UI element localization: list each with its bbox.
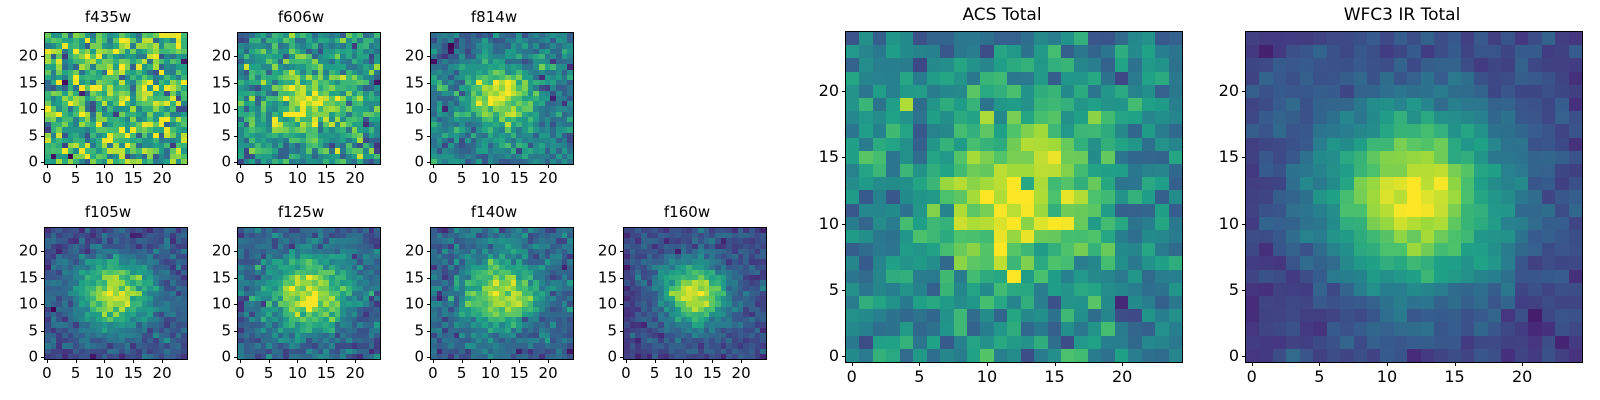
heatmap-image [45,33,187,164]
heatmap-axes [237,227,381,360]
x-tick-label: 15 [1444,369,1464,385]
x-tick-label: 15 [317,366,336,381]
figure-canvas: f435w0055101015152020f606w00551010151520… [0,0,1600,400]
y-tick-label: 20 [8,243,38,258]
y-tick-mark [427,136,430,137]
x-tick-mark [1319,363,1320,366]
x-tick-mark [462,165,463,168]
x-tick-label: 0 [42,171,52,186]
x-tick-label: 15 [124,366,143,381]
y-tick-label: 20 [587,243,617,258]
y-tick-label: 0 [394,155,424,170]
y-tick-mark [842,224,845,225]
y-tick-label: 15 [201,270,231,285]
y-tick-label: 5 [587,323,617,338]
heatmap-axes [237,32,381,165]
panel-f105w: f105w0055101015152020 [8,201,208,386]
y-tick-mark [41,109,44,110]
y-tick-label: 20 [201,48,231,63]
x-tick-mark [433,165,434,168]
x-tick-mark [519,165,520,168]
heatmap-image [431,228,573,359]
x-tick-mark [355,360,356,363]
y-tick-mark [234,83,237,84]
y-tick-mark [427,162,430,163]
y-tick-label: 20 [201,243,231,258]
y-tick-label: 5 [801,282,839,298]
y-tick-mark [427,278,430,279]
heatmap-axes [623,227,767,360]
y-tick-label: 5 [1201,282,1239,298]
x-tick-label: 0 [621,366,631,381]
x-tick-mark [519,360,520,363]
y-tick-label: 0 [201,155,231,170]
panel-title: f160w [587,205,787,220]
y-tick-label: 20 [8,48,38,63]
y-tick-mark [1242,91,1245,92]
x-tick-mark [297,360,298,363]
x-tick-label: 5 [1314,369,1324,385]
y-tick-label: 20 [394,243,424,258]
y-tick-label: 5 [201,323,231,338]
x-tick-label: 5 [71,171,81,186]
x-tick-mark [987,363,988,366]
x-tick-mark [1387,363,1388,366]
x-tick-mark [741,360,742,363]
y-tick-label: 10 [8,297,38,312]
x-tick-label: 15 [510,171,529,186]
x-tick-mark [626,360,627,363]
x-tick-label: 5 [650,366,660,381]
x-tick-label: 5 [914,369,924,385]
x-tick-mark [655,360,656,363]
y-tick-mark [41,357,44,358]
x-tick-mark [269,165,270,168]
x-tick-label: 20 [1112,369,1132,385]
x-tick-label: 15 [703,366,722,381]
y-tick-label: 20 [1201,83,1239,99]
x-tick-mark [548,165,549,168]
x-tick-label: 0 [235,171,245,186]
x-tick-mark [47,165,48,168]
panel-title: f125w [201,205,401,220]
x-tick-mark [433,360,434,363]
x-tick-mark [76,360,77,363]
x-tick-mark [240,360,241,363]
x-tick-mark [133,165,134,168]
y-tick-mark [427,331,430,332]
y-tick-label: 10 [394,297,424,312]
y-tick-mark [1242,356,1245,357]
x-tick-mark [76,165,77,168]
y-tick-mark [41,278,44,279]
y-tick-mark [620,251,623,252]
panel-title: ACS Total [801,7,1203,24]
y-tick-label: 15 [1201,149,1239,165]
x-tick-label: 15 [317,171,336,186]
y-tick-mark [234,278,237,279]
y-tick-mark [234,109,237,110]
y-tick-label: 0 [201,350,231,365]
y-tick-label: 15 [8,270,38,285]
panel-f435w: f435w0055101015152020 [8,6,208,191]
x-tick-mark [1252,363,1253,366]
y-tick-label: 10 [587,297,617,312]
panel-title: WFC3 IR Total [1201,7,1600,24]
y-tick-mark [234,136,237,137]
x-tick-mark [1122,363,1123,366]
y-tick-label: 15 [201,75,231,90]
panel-f125w: f125w0055101015152020 [201,201,401,386]
y-tick-mark [842,157,845,158]
x-tick-label: 10 [1377,369,1397,385]
x-tick-label: 20 [539,366,558,381]
y-tick-mark [427,357,430,358]
panel-f140w: f140w0055101015152020 [394,201,594,386]
x-tick-mark [919,363,920,366]
y-tick-mark [427,56,430,57]
x-tick-label: 10 [674,366,693,381]
panel-title: f814w [394,10,594,25]
x-tick-mark [683,360,684,363]
y-tick-mark [234,357,237,358]
y-tick-mark [234,331,237,332]
y-tick-mark [234,251,237,252]
x-tick-label: 20 [732,366,751,381]
y-tick-mark [427,251,430,252]
y-tick-label: 15 [394,75,424,90]
x-tick-mark [297,165,298,168]
y-tick-mark [427,83,430,84]
x-tick-label: 15 [124,171,143,186]
y-tick-mark [842,290,845,291]
y-tick-label: 0 [801,348,839,364]
x-tick-label: 5 [264,171,274,186]
x-tick-label: 0 [428,366,438,381]
y-tick-label: 10 [394,102,424,117]
y-tick-label: 15 [394,270,424,285]
y-tick-mark [842,91,845,92]
heatmap-axes [845,31,1183,363]
y-tick-mark [41,162,44,163]
y-tick-label: 15 [801,149,839,165]
y-tick-label: 20 [394,48,424,63]
x-tick-label: 15 [1044,369,1064,385]
panel-f606w: f606w0055101015152020 [201,6,401,191]
y-tick-label: 5 [201,128,231,143]
x-tick-mark [162,165,163,168]
heatmap-axes [430,227,574,360]
y-tick-mark [41,83,44,84]
panel-title: f140w [394,205,594,220]
y-tick-label: 5 [8,323,38,338]
x-tick-mark [462,360,463,363]
x-tick-label: 10 [288,171,307,186]
y-tick-label: 0 [8,350,38,365]
x-tick-label: 15 [510,366,529,381]
y-tick-mark [41,331,44,332]
y-tick-mark [41,136,44,137]
x-tick-label: 5 [264,366,274,381]
x-tick-label: 10 [95,366,114,381]
heatmap-image [1246,32,1582,362]
x-tick-mark [162,360,163,363]
heatmap-image [624,228,766,359]
y-tick-label: 0 [394,350,424,365]
x-tick-mark [104,360,105,363]
x-tick-label: 5 [71,366,81,381]
x-tick-mark [47,360,48,363]
y-tick-mark [234,56,237,57]
y-tick-mark [620,331,623,332]
y-tick-mark [1242,290,1245,291]
x-tick-label: 20 [153,366,172,381]
y-tick-label: 10 [1201,216,1239,232]
heatmap-axes [1245,31,1583,363]
x-tick-label: 10 [481,171,500,186]
y-tick-mark [620,357,623,358]
x-tick-label: 0 [235,366,245,381]
heatmap-image [846,32,1182,362]
y-tick-label: 10 [201,102,231,117]
y-tick-label: 20 [801,83,839,99]
panel-wfc3-ir-total: WFC3 IR Total0055101015152020 [1201,3,1600,391]
panel-title: f606w [201,10,401,25]
y-tick-mark [41,251,44,252]
x-tick-mark [269,360,270,363]
x-tick-mark [712,360,713,363]
panel-f814w: f814w0055101015152020 [394,6,594,191]
panel-f160w: f160w0055101015152020 [587,201,787,386]
x-tick-mark [104,165,105,168]
x-tick-label: 0 [42,366,52,381]
x-tick-mark [240,165,241,168]
panel-acs-total: ACS Total0055101015152020 [801,3,1203,391]
y-tick-label: 10 [8,102,38,117]
y-tick-label: 10 [801,216,839,232]
y-tick-mark [842,356,845,357]
x-tick-label: 20 [1512,369,1532,385]
heatmap-axes [44,32,188,165]
x-tick-label: 0 [1247,369,1257,385]
heatmap-image [238,228,380,359]
x-tick-label: 10 [977,369,997,385]
x-tick-label: 20 [346,366,365,381]
heatmap-image [238,33,380,164]
heatmap-image [431,33,573,164]
x-tick-mark [133,360,134,363]
x-tick-label: 5 [457,366,467,381]
y-tick-label: 10 [201,297,231,312]
y-tick-mark [234,304,237,305]
y-tick-label: 0 [587,350,617,365]
y-tick-mark [620,304,623,305]
x-tick-mark [326,360,327,363]
panel-title: f435w [8,10,208,25]
y-tick-label: 5 [394,128,424,143]
y-tick-label: 0 [1201,348,1239,364]
y-tick-label: 5 [8,128,38,143]
heatmap-image [45,228,187,359]
x-tick-mark [1055,363,1056,366]
y-tick-mark [427,304,430,305]
y-tick-mark [427,109,430,110]
x-tick-mark [1455,363,1456,366]
x-tick-label: 20 [346,171,365,186]
heatmap-axes [430,32,574,165]
x-tick-label: 20 [153,171,172,186]
x-tick-mark [326,165,327,168]
y-tick-mark [1242,157,1245,158]
y-tick-mark [1242,224,1245,225]
x-tick-label: 10 [288,366,307,381]
y-tick-mark [620,278,623,279]
x-tick-label: 0 [428,171,438,186]
x-tick-label: 0 [847,369,857,385]
y-tick-label: 5 [394,323,424,338]
y-tick-mark [41,56,44,57]
x-tick-label: 5 [457,171,467,186]
x-tick-label: 10 [95,171,114,186]
x-tick-mark [548,360,549,363]
x-tick-mark [852,363,853,366]
y-tick-label: 15 [587,270,617,285]
y-tick-mark [234,162,237,163]
panel-title: f105w [8,205,208,220]
y-tick-label: 0 [8,155,38,170]
x-tick-mark [355,165,356,168]
x-tick-label: 20 [539,171,558,186]
y-tick-mark [41,304,44,305]
heatmap-axes [44,227,188,360]
x-tick-label: 10 [481,366,500,381]
x-tick-mark [490,165,491,168]
x-tick-mark [1522,363,1523,366]
y-tick-label: 15 [8,75,38,90]
x-tick-mark [490,360,491,363]
